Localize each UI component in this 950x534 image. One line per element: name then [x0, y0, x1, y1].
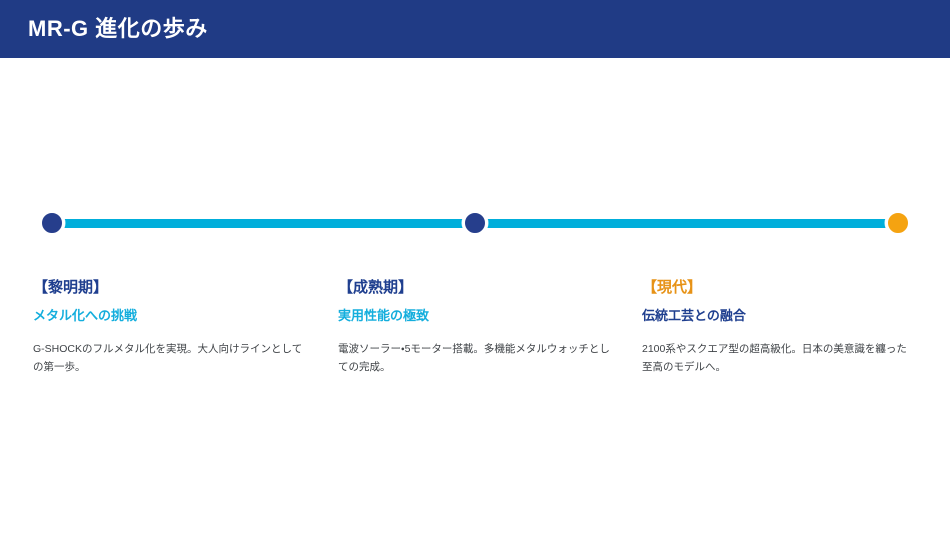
timeline-node-dawn[interactable]	[39, 210, 65, 236]
era-subtitle-dawn: メタル化への挑戦	[33, 307, 318, 325]
timeline	[0, 206, 950, 246]
era-body-modern: 2100系やスクエア型の超高級化。日本の美意識を纏った至高のモデルへ。	[642, 340, 914, 377]
page-title: MR-G 進化の歩み	[28, 18, 208, 40]
slide-root: MR-G 進化の歩み 【黎明期】 メタル化への挑戦 G-SHOCKのフルメタル化…	[0, 0, 950, 534]
era-label-modern: 【現代】	[642, 278, 927, 298]
timeline-column-maturity: 【成熟期】 実用性能の極致 電波ソーラー・5モーター搭載。多機能メタルウォッチと…	[338, 278, 623, 377]
timeline-column-modern: 【現代】 伝統工芸との融合 2100系やスクエア型の超高級化。日本の美意識を纏っ…	[642, 278, 927, 377]
era-subtitle-modern: 伝統工芸との融合	[642, 307, 927, 325]
timeline-columns: 【黎明期】 メタル化への挑戦 G-SHOCKのフルメタル化を実現。大人向けライン…	[0, 278, 950, 398]
era-body-dawn: G-SHOCKのフルメタル化を実現。大人向けラインとしての第一歩。	[33, 340, 305, 377]
era-body-maturity: 電波ソーラー・5モーター搭載。多機能メタルウォッチとしての完成。	[338, 340, 610, 377]
era-label-maturity: 【成熟期】	[338, 278, 623, 298]
header-bar: MR-G 進化の歩み	[0, 0, 950, 58]
timeline-node-modern[interactable]	[885, 210, 911, 236]
era-subtitle-maturity: 実用性能の極致	[338, 307, 623, 325]
timeline-column-dawn: 【黎明期】 メタル化への挑戦 G-SHOCKのフルメタル化を実現。大人向けライン…	[33, 278, 318, 377]
timeline-node-maturity[interactable]	[462, 210, 488, 236]
era-label-dawn: 【黎明期】	[33, 278, 318, 298]
